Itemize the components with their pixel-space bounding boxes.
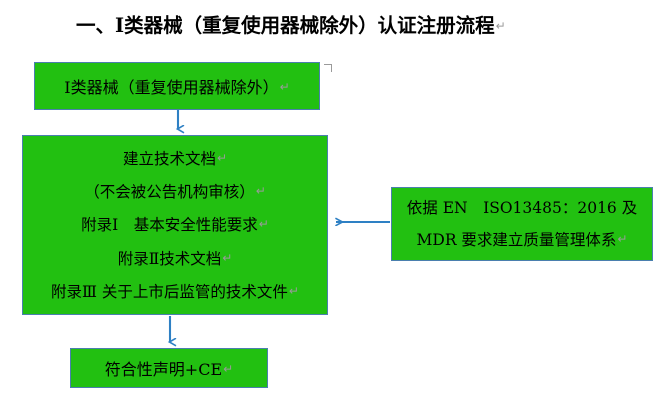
node-quality-management-system-line-1: 依据 EN ISO13485：2016 及 xyxy=(407,198,637,218)
node-technical-documentation-line-2: （不会被公告机构审核）↵ xyxy=(84,181,266,202)
page-title-text: 一、Ⅰ类器械（重复使用器械除外）认证注册流程 xyxy=(76,14,495,37)
paragraph-mark-icon: ↵ xyxy=(255,184,266,198)
node-technical-documentation[interactable]: 建立技术文档↵ （不会被公告机构审核）↵ 附录Ⅰ 基本安全性能要求↵ 附录Ⅱ技术… xyxy=(22,135,328,315)
paragraph-mark-icon: ↵ xyxy=(221,251,232,265)
textbox-boundary-tick-icon xyxy=(324,64,332,72)
node-quality-management-system[interactable]: 依据 EN ISO13485：2016 及 MDR 要求建立质量管理体系↵ xyxy=(391,187,653,261)
node-class-i-device[interactable]: Ⅰ类器械（重复使用器械除外）↵ xyxy=(34,62,320,110)
node-technical-documentation-line-5: 附录Ⅲ 关于上市后监管的技术文件↵ xyxy=(51,281,299,302)
paragraph-mark-icon: ↵ xyxy=(288,284,299,298)
paragraph-mark-icon: ↵ xyxy=(279,80,290,94)
paragraph-mark-icon: ↵ xyxy=(216,151,227,165)
node-technical-documentation-line-3: 附录Ⅰ 基本安全性能要求↵ xyxy=(81,214,269,235)
node-technical-documentation-line-1: 建立技术文档↵ xyxy=(123,148,227,169)
paragraph-mark-icon: ↵ xyxy=(258,217,269,231)
node-declaration-of-conformity[interactable]: 符合性声明+CE↵ xyxy=(70,348,268,388)
paragraph-mark-icon: ↵ xyxy=(616,232,627,246)
node-class-i-device-text: Ⅰ类器械（重复使用器械除外） xyxy=(64,78,278,97)
page-title: 一、Ⅰ类器械（重复使用器械除外）认证注册流程↵ xyxy=(76,12,506,40)
paragraph-mark-icon: ↵ xyxy=(222,362,233,376)
node-technical-documentation-line-4: 附录Ⅱ技术文档↵ xyxy=(118,248,233,269)
node-quality-management-system-line-2: MDR 要求建立质量管理体系↵ xyxy=(417,229,628,250)
node-declaration-of-conformity-line-1: 符合性声明+CE↵ xyxy=(105,356,233,380)
paragraph-mark-icon: ↵ xyxy=(495,19,506,33)
node-class-i-device-line-1: Ⅰ类器械（重复使用器械除外）↵ xyxy=(64,74,289,98)
